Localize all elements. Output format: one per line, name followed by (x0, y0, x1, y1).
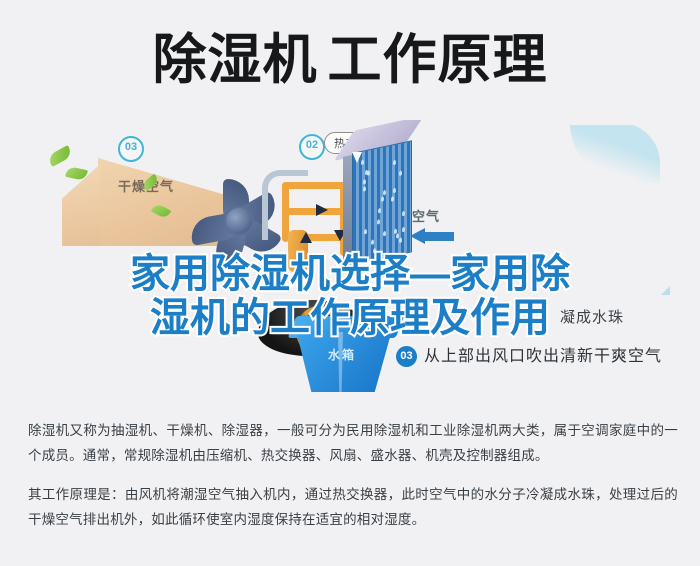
fan-hub (224, 206, 254, 236)
condensation-droplet (381, 196, 384, 202)
paragraph-2: 其工作原理是：由风机将潮湿空气抽入机内，通过热交换器，此时空气中的水分子冷凝成水… (28, 482, 678, 532)
condensation-droplet (393, 159, 396, 165)
condensation-droplet (363, 179, 366, 185)
flow-arrow-up-icon (300, 232, 312, 243)
air-intake-arrow-icon (410, 228, 454, 244)
badge-outlet: 03 (396, 346, 417, 367)
condensation-droplet (383, 190, 386, 196)
condensation-droplet (371, 239, 374, 245)
paragraph-1: 除湿机又称为抽湿机、干燥机、除湿器，一般可分为民用除湿机和工业除湿机两大类，属于… (28, 418, 678, 468)
coil-pipe (282, 208, 348, 215)
humid-air-arc-tail (570, 125, 660, 183)
condensation-droplet (383, 231, 386, 237)
humid-air-arc-icon (420, 125, 670, 295)
water-tank-icon: 水箱 (292, 316, 400, 402)
page-title: 除湿机工作原理 (0, 28, 700, 92)
arrow-shaft (424, 232, 454, 241)
condensation-droplet (402, 211, 405, 217)
condensation-droplet (373, 248, 376, 254)
condensation-droplet (391, 196, 394, 202)
arrow-tip (410, 228, 425, 244)
condensation-droplet (363, 186, 366, 192)
condensation-droplet (393, 188, 396, 194)
page-title-part2: 工作原理 (328, 30, 548, 90)
condensation-droplet (377, 219, 380, 225)
condensation-droplet (399, 171, 402, 177)
water-tank-label: 水箱 (328, 346, 356, 363)
condensation-droplet (399, 237, 402, 243)
badge-dry-air: 03 (118, 136, 144, 162)
badge-heat-exchanger: 02 (299, 134, 325, 160)
condensation-droplet (367, 170, 370, 176)
page-title-text: 除湿机工作原理 (153, 28, 548, 92)
outlet-flow-label: 从上部出风口吹出清新干爽空气 (424, 342, 662, 366)
article-body: 除湿机又称为抽湿机、干燥机、除湿器，一般可分为民用除湿机和工业除湿机两大类，属于… (28, 418, 678, 532)
condensation-droplet (402, 227, 405, 233)
flow-arrow-right-icon (316, 204, 328, 216)
page-root: 除湿机工作原理 干燥空气 03 02 01 热交换器 潮湿空气 (0, 0, 700, 566)
condensation-droplet (378, 207, 381, 213)
condensation-droplet (364, 228, 367, 234)
condense-label: 凝成水珠 (560, 306, 624, 327)
page-title-part1: 除湿机 (153, 30, 318, 90)
coil-pipe (282, 182, 348, 189)
dehumidifier-diagram: 干燥空气 03 02 01 热交换器 潮湿空气 (0, 120, 700, 410)
